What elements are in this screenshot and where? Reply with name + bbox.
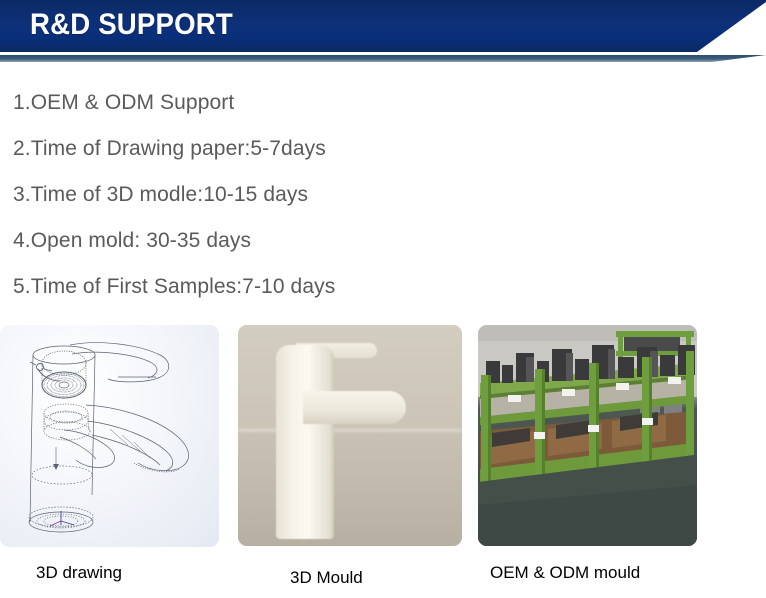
list-item: 5.Time of First Samples:7-10 days [13,264,613,310]
list-item: 4.Open mold: 30-35 days [13,218,613,264]
mould-photo-counter-edge [238,429,462,432]
header-white-gap [0,52,766,55]
gallery-image-oem-odm-mould [478,325,697,546]
page-header: R&D SUPPORT [0,0,766,62]
list-item: 2.Time of Drawing paper:5-7days [13,126,613,172]
list-item: 1.OEM & ODM Support [13,80,613,126]
gallery [0,325,766,550]
gallery-caption-oem-odm-mould: OEM & ODM mould [490,563,640,583]
mould-photo-counter [238,431,462,546]
gallery-image-cad-drawing [0,325,219,547]
list-item: 3.Time of 3D modle:10-15 days [13,172,613,218]
gallery-image-printed-mould [238,325,462,546]
faucet-spout [303,391,406,424]
gallery-caption-printed-mould: 3D Mould [290,568,363,588]
rd-support-list: 1.OEM & ODM Support 2.Time of Drawing pa… [13,80,613,310]
gallery-caption-cad-drawing: 3D drawing [36,563,122,583]
warehouse-racks-illustration [478,325,697,546]
cad-wireframe-illustration [0,325,219,547]
page-title: R&D SUPPORT [30,8,233,42]
header-accent-rule [0,55,766,62]
faucet-body-column [276,345,334,539]
mould-photo-background [238,325,462,546]
